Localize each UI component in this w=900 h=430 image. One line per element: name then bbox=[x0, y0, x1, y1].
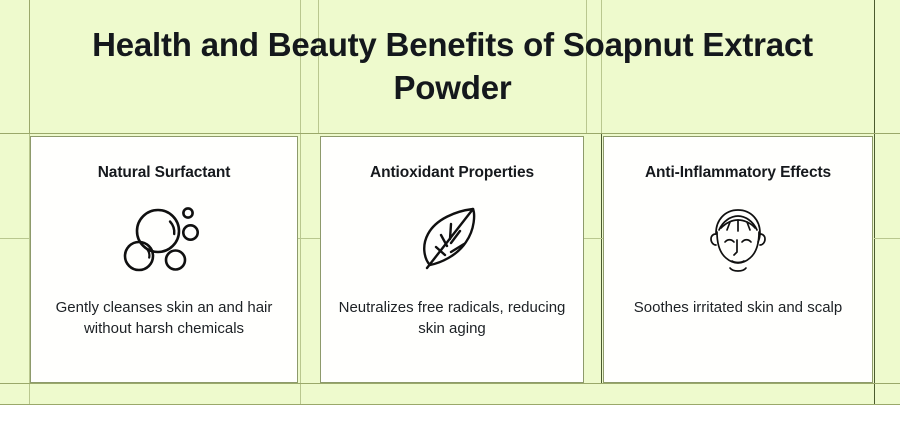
grid-line-horizontal bbox=[0, 133, 900, 134]
grid-line-horizontal bbox=[0, 383, 900, 384]
grid-line-horizontal bbox=[298, 238, 320, 239]
bubbles-icon bbox=[120, 202, 208, 278]
title-band: Health and Beauty Benefits of Soapnut Ex… bbox=[30, 0, 875, 133]
benefit-card-anti-inflammatory-effects[interactable]: Anti-Inflammatory Effects Soothes irrita… bbox=[603, 136, 873, 383]
card-description: Gently cleanses skin an and hair without… bbox=[31, 278, 297, 339]
grid-line-horizontal bbox=[584, 238, 603, 239]
card-description: Neutralizes free radicals, reducing skin… bbox=[321, 278, 583, 339]
grid-line-vertical bbox=[300, 383, 301, 405]
card-title: Anti-Inflammatory Effects bbox=[637, 137, 839, 182]
grid-line-horizontal bbox=[874, 238, 900, 239]
card-title: Antioxidant Properties bbox=[362, 137, 542, 182]
infographic-canvas: Health and Beauty Benefits of Soapnut Ex… bbox=[0, 0, 900, 430]
grid-line-vertical bbox=[601, 133, 602, 383]
grid-line-vertical bbox=[29, 383, 30, 405]
card-description: Soothes irritated skin and scalp bbox=[620, 278, 856, 319]
benefit-card-antioxidant-properties[interactable]: Antioxidant Properties Neutralizes free … bbox=[320, 136, 584, 383]
leaf-icon bbox=[412, 202, 492, 278]
grid-line-vertical bbox=[300, 133, 301, 383]
benefit-card-natural-surfactant[interactable]: Natural Surfactant Gently cleanses skin … bbox=[30, 136, 298, 383]
background-sheet-bottom-band bbox=[0, 383, 900, 405]
face-icon bbox=[702, 202, 774, 278]
grid-line-horizontal bbox=[0, 238, 30, 239]
bottom-white-strip bbox=[0, 405, 900, 430]
page-title: Health and Beauty Benefits of Soapnut Ex… bbox=[58, 24, 848, 108]
card-title: Natural Surfactant bbox=[90, 137, 239, 182]
